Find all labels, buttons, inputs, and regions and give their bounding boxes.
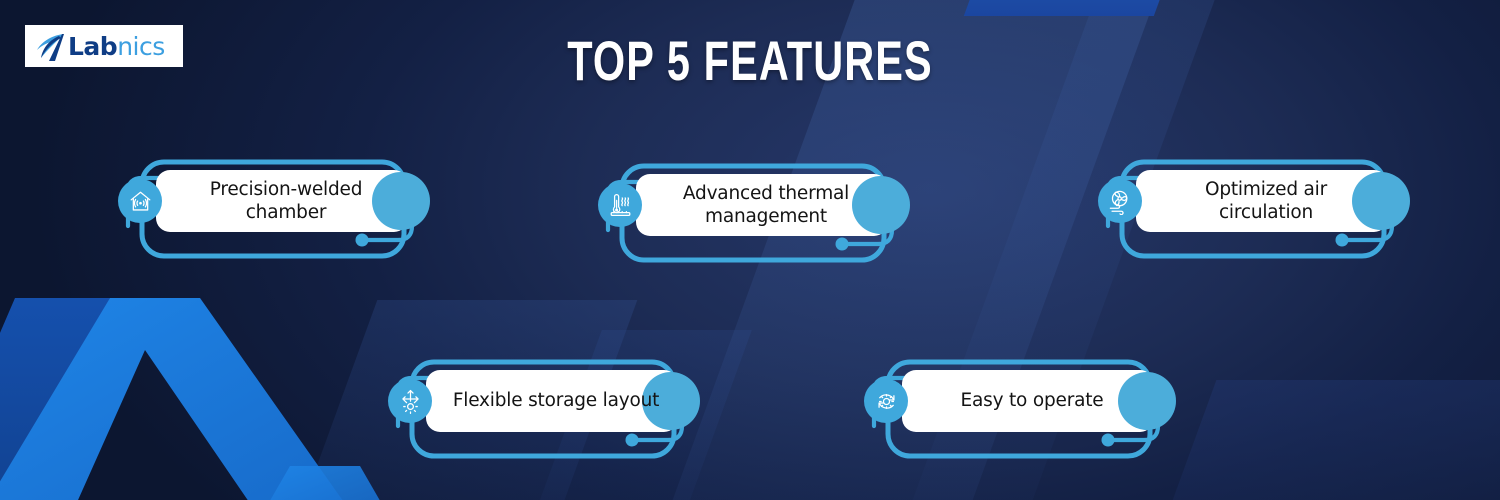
trace-dot-bottom	[356, 234, 369, 247]
logo-wordmark: Labnics	[68, 34, 165, 59]
page-title: TOP 5 FEATURES	[195, 28, 1305, 93]
feature-card-optimized-air-circulation[interactable]: Optimized air circulation	[1092, 148, 1412, 268]
feature-label: Advanced thermal management	[644, 174, 888, 236]
labnics-swoosh-icon	[33, 31, 67, 61]
bg-top-accent-bar	[964, 0, 1166, 16]
brand-logo[interactable]: Labnics	[25, 25, 183, 67]
feature-card-precision-welded-chamber[interactable]: Precision-welded chamber	[112, 148, 432, 268]
feature-card-flexible-storage-layout[interactable]: Flexible storage layout	[382, 348, 702, 468]
bg-diagonal-band-5	[1144, 380, 1500, 500]
feature-label: Optimized air circulation	[1144, 170, 1388, 232]
trace-dot-bottom	[1102, 434, 1115, 447]
trace-dot-bottom	[836, 238, 849, 251]
feature-card-advanced-thermal-management[interactable]: Advanced thermal management	[592, 152, 912, 272]
trace-dot-bottom	[1336, 234, 1349, 247]
gear-arrows-icon	[388, 379, 432, 423]
logo-word-nics: nics	[117, 32, 165, 61]
trace-dot-bottom	[626, 434, 639, 447]
feature-label: Precision-welded chamber	[164, 170, 408, 232]
gear-refresh-icon	[864, 379, 908, 423]
features-infographic: Labnics TOP 5 FEATURES Precision-welded …	[0, 0, 1500, 500]
bg-chevron-shape	[0, 298, 420, 500]
feature-label: Flexible storage layout	[434, 370, 678, 432]
house-signal-icon	[118, 179, 162, 223]
thermometer-heat-icon	[598, 183, 642, 227]
feature-label: Easy to operate	[910, 370, 1154, 432]
fan-airflow-icon	[1098, 179, 1142, 223]
feature-card-easy-to-operate[interactable]: Easy to operate	[858, 348, 1178, 468]
logo-word-lab: Lab	[68, 32, 117, 61]
